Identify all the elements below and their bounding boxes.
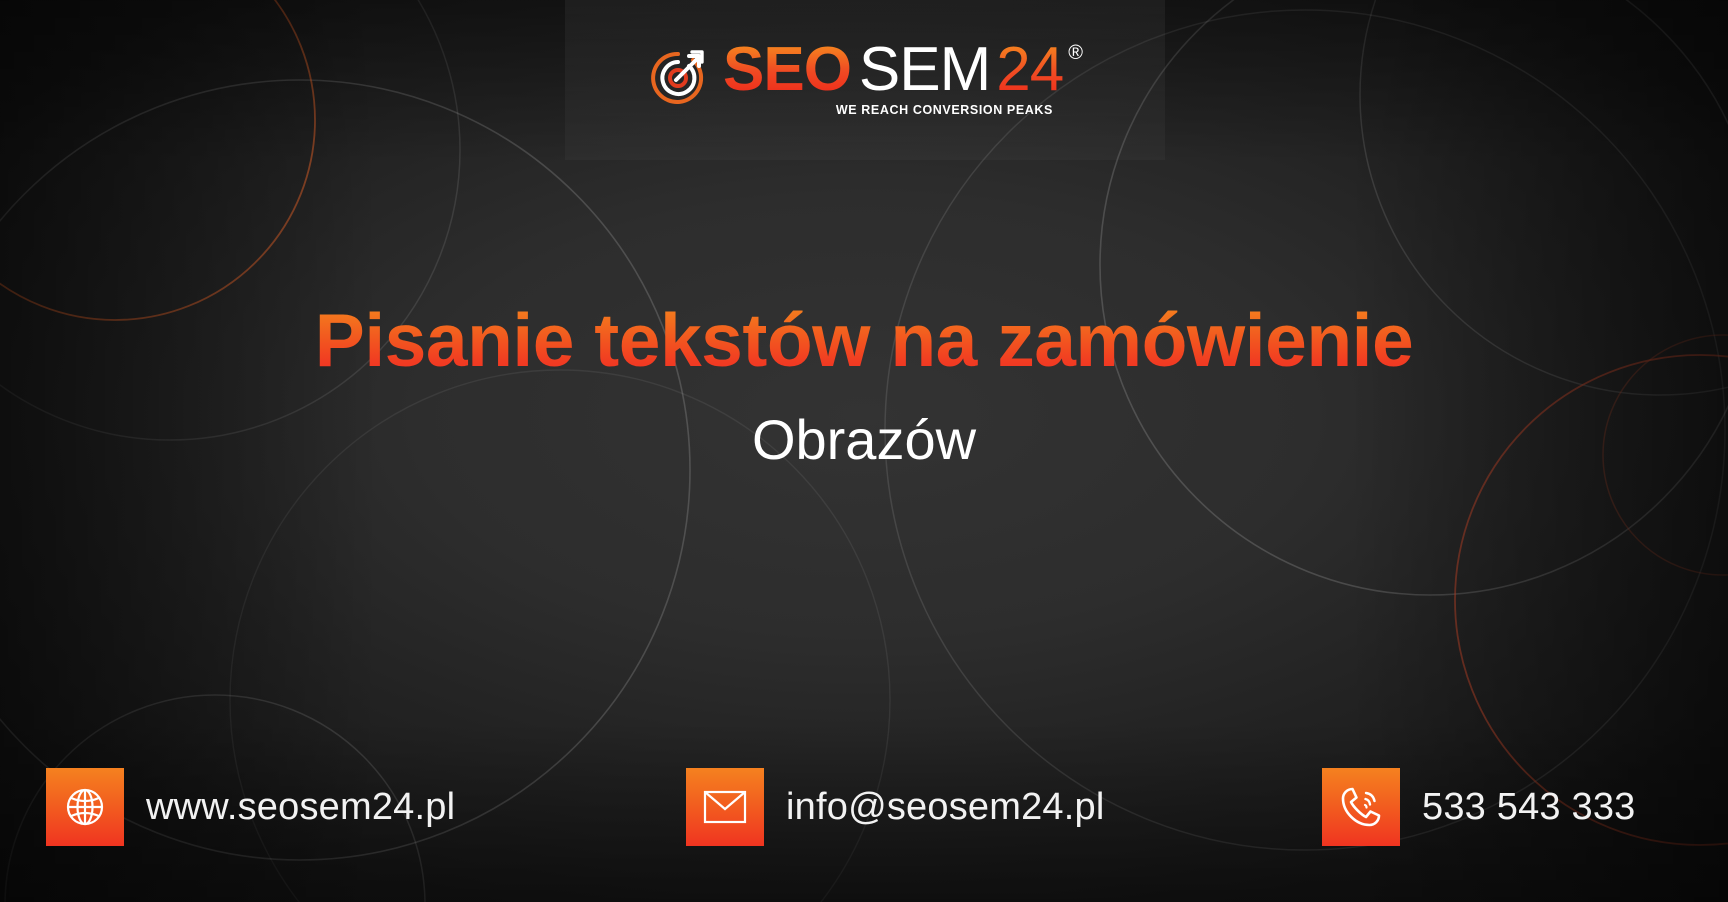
contact-footer: www.seosem24.pl info@seosem24.pl 533 [0, 730, 1728, 902]
phone-icon [1322, 768, 1400, 846]
logo-wordmark: SEO SEM 24 ® WE REACH CONVERSION PEAKS [723, 39, 1083, 117]
logo-24-text: 24 [996, 39, 1063, 101]
logo-sem-text: SEM [859, 39, 990, 101]
logo-words-row: SEO SEM 24 ® [723, 39, 1083, 101]
registered-trademark-icon: ® [1068, 43, 1083, 63]
target-dart-icon [647, 47, 709, 109]
envelope-icon [686, 768, 764, 846]
logo-tagline: WE REACH CONVERSION PEAKS [723, 103, 1083, 117]
contact-item-website[interactable]: www.seosem24.pl [46, 768, 455, 846]
page-subtitle: Obrazów [0, 409, 1728, 471]
page-title: Pisanie tekstów na zamówienie [0, 300, 1728, 381]
headline-block: Pisanie tekstów na zamówienie Obrazów [0, 300, 1728, 471]
website-label: www.seosem24.pl [146, 786, 455, 829]
logo-panel: SEO SEM 24 ® WE REACH CONVERSION PEAKS [565, 0, 1165, 160]
promo-banner: SEO SEM 24 ® WE REACH CONVERSION PEAKS P… [0, 0, 1728, 902]
globe-icon [46, 768, 124, 846]
logo-seo-text: SEO [723, 39, 851, 101]
email-label: info@seosem24.pl [786, 786, 1105, 829]
contact-item-phone[interactable]: 533 543 333 [1322, 768, 1636, 846]
contact-item-email[interactable]: info@seosem24.pl [686, 768, 1105, 846]
brand-logo[interactable]: SEO SEM 24 ® WE REACH CONVERSION PEAKS [647, 39, 1083, 117]
phone-label: 533 543 333 [1422, 786, 1636, 829]
